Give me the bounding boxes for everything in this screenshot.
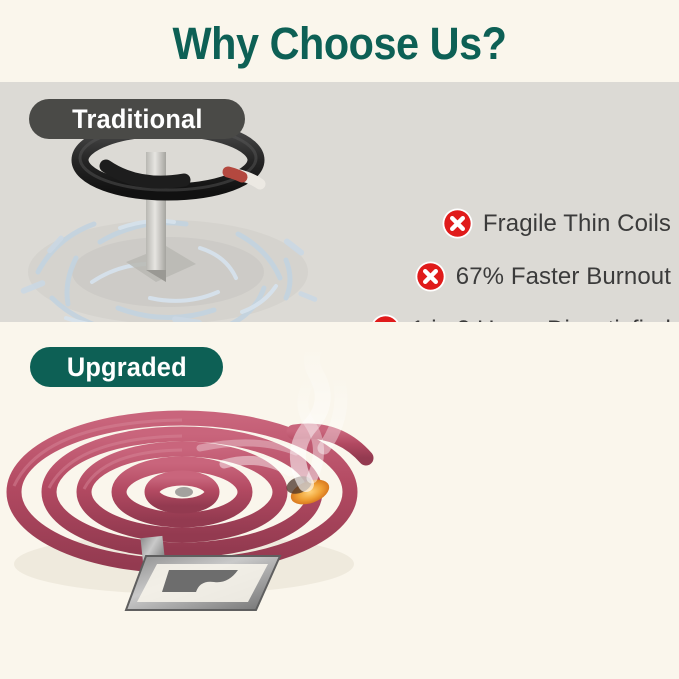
list-item: 1 in 3 Users Dissatisfied xyxy=(231,314,671,322)
header-bar: Why Choose Us? xyxy=(0,0,679,82)
traditional-bullet-list: Fragile Thin Coils 67% Faster Burnout xyxy=(231,208,671,322)
x-circle-icon xyxy=(415,261,446,292)
badge-traditional-label: Traditional xyxy=(72,104,202,135)
why-choose-us-infographic: Why Choose Us? xyxy=(0,0,679,679)
list-item-label: 67% Faster Burnout xyxy=(456,263,671,291)
list-item: Fragile Thin Coils xyxy=(231,208,671,239)
x-circle-icon xyxy=(442,208,473,239)
badge-upgraded: Upgraded xyxy=(30,347,223,387)
section-upgraded: Upgraded Extra Thick Coils xyxy=(0,322,679,679)
x-circle-icon xyxy=(370,314,401,322)
list-item-label: Fragile Thin Coils xyxy=(483,210,671,238)
section-traditional: Traditional Fragile Thin Coils xyxy=(0,82,679,322)
upgraded-product-image xyxy=(0,352,394,672)
badge-traditional: Traditional xyxy=(29,99,245,139)
page-title: Why Choose Us? xyxy=(173,21,507,66)
badge-upgraded-label: Upgraded xyxy=(67,352,187,383)
list-item: 67% Faster Burnout xyxy=(231,261,671,292)
